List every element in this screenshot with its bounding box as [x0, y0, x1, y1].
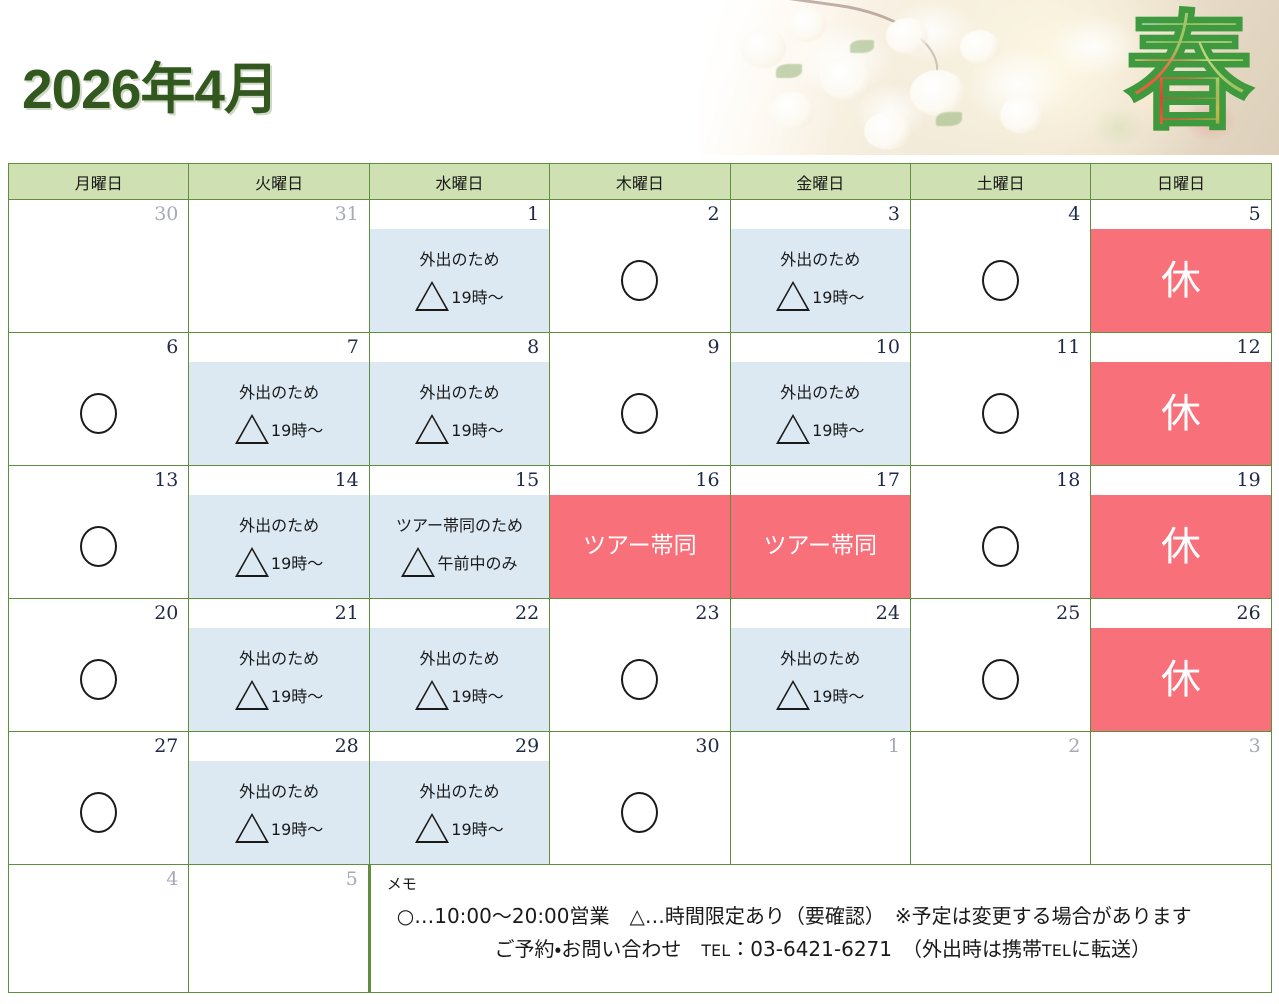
day-content: 外出のため19時〜 — [370, 628, 549, 731]
day-cell[interactable]: 3外出のため19時〜 — [730, 200, 910, 333]
day-number: 12 — [1091, 333, 1270, 362]
day-content: 外出のため19時〜 — [189, 362, 368, 465]
day-time-line: 19時〜 — [235, 813, 323, 843]
day-content: 外出のため19時〜 — [189, 495, 368, 598]
day-time: 19時〜 — [451, 417, 503, 441]
day-content: 外出のため19時〜 — [731, 362, 910, 465]
day-number: 15 — [370, 466, 549, 495]
day-content — [550, 761, 729, 864]
day-time: 19時〜 — [451, 816, 503, 840]
weekday-header-1: 火曜日 — [189, 164, 369, 200]
leaf-icon — [850, 40, 874, 53]
day-number: 30 — [550, 732, 729, 761]
circle-icon — [621, 792, 658, 833]
day-cell[interactable]: 17ツアー帯同 — [730, 466, 910, 599]
day-time: 19時〜 — [271, 816, 323, 840]
memo-line-1: ○…10:00〜20:00営業 △…時間限定あり（要確認） ※予定は変更する場合… — [387, 900, 1259, 929]
phone-number: ：03-6421-6271 （外出時は携帯 — [730, 937, 1042, 961]
blossom-icon — [910, 70, 966, 116]
day-cell[interactable]: 15ツアー帯同のため午前中のみ — [369, 466, 549, 599]
day-time: 19時〜 — [812, 284, 864, 308]
week-row: 2728外出のため19時〜29外出のため19時〜30123 — [9, 732, 1272, 865]
weekday-header-0: 月曜日 — [9, 164, 189, 200]
closed-label: 休 — [1161, 261, 1201, 301]
memo-label: メモ — [387, 873, 1259, 894]
triangle-icon — [776, 680, 810, 710]
day-number: 4 — [911, 200, 1090, 229]
circle-icon — [621, 393, 658, 434]
day-number: 17 — [731, 466, 910, 495]
day-content: 外出のため19時〜 — [731, 229, 910, 332]
day-cell[interactable]: 19休 — [1091, 466, 1271, 599]
day-cell[interactable]: 18 — [910, 466, 1090, 599]
day-cell[interactable]: 30 — [9, 200, 189, 333]
day-time-line: 19時〜 — [776, 414, 864, 444]
day-time: 19時〜 — [271, 417, 323, 441]
day-number: 30 — [9, 200, 188, 229]
day-time-line: 19時〜 — [235, 547, 323, 577]
day-time: 19時〜 — [271, 550, 323, 574]
circle-icon — [982, 260, 1019, 301]
blossom-icon — [1000, 96, 1044, 134]
day-cell[interactable]: 20 — [9, 599, 189, 732]
triangle-icon — [235, 414, 269, 444]
day-number: 6 — [9, 333, 188, 362]
closed-label: 休 — [1161, 394, 1201, 434]
day-cell[interactable]: 27 — [9, 732, 189, 865]
day-content: 外出のため19時〜 — [370, 229, 549, 332]
week-row: 67外出のため19時〜8外出のため19時〜910外出のため19時〜1112休 — [9, 333, 1272, 466]
day-content: 休 — [1091, 495, 1270, 598]
triangle-icon — [235, 547, 269, 577]
circle-icon — [80, 526, 117, 567]
day-number: 13 — [9, 466, 188, 495]
day-note: 外出のため — [419, 649, 499, 668]
circle-icon — [982, 659, 1019, 700]
day-content — [550, 229, 729, 332]
day-content: 休 — [1091, 628, 1270, 731]
day-number: 22 — [370, 599, 549, 628]
day-cell[interactable]: 10外出のため19時〜 — [730, 333, 910, 466]
day-cell[interactable]: 3 — [1091, 732, 1271, 865]
day-number: 18 — [911, 466, 1090, 495]
day-cell[interactable]: 2 — [550, 200, 730, 333]
blossom-icon — [820, 56, 872, 100]
day-content: 外出のため19時〜 — [189, 628, 368, 731]
day-time-line: 19時〜 — [235, 414, 323, 444]
day-number: 23 — [550, 599, 729, 628]
triangle-icon — [415, 281, 449, 311]
day-number: 14 — [189, 466, 368, 495]
weekday-header-row: 月曜日火曜日水曜日木曜日金曜日土曜日日曜日 — [9, 164, 1272, 200]
day-number: 2 — [550, 200, 729, 229]
day-note: 外出のため — [239, 383, 319, 402]
memo-cell[interactable]: メモ○…10:00〜20:00営業 △…時間限定あり（要確認） ※予定は変更する… — [369, 865, 1271, 993]
day-time: 19時〜 — [812, 417, 864, 441]
blossom-icon — [770, 92, 814, 130]
triangle-icon — [235, 813, 269, 843]
day-cell[interactable]: 8外出のため19時〜 — [369, 333, 549, 466]
day-cell[interactable]: 6 — [9, 333, 189, 466]
day-number: 2 — [911, 732, 1090, 761]
day-cell[interactable]: 14外出のため19時〜 — [189, 466, 369, 599]
triangle-icon — [415, 414, 449, 444]
day-note: 外出のため — [419, 383, 499, 402]
memo-line-2: ご予約・お問い合わせ TEL：03-6421-6271 （外出時は携帯TELに転… — [387, 933, 1259, 962]
memo-forward-text: に転送） — [1071, 937, 1151, 961]
circle-icon — [80, 792, 117, 833]
day-number: 9 — [550, 333, 729, 362]
day-time-line: 19時〜 — [776, 680, 864, 710]
day-number: 27 — [9, 732, 188, 761]
triangle-icon — [235, 680, 269, 710]
day-number: 29 — [370, 732, 549, 761]
day-time: 19時〜 — [271, 683, 323, 707]
day-time-line: 19時〜 — [415, 281, 503, 311]
day-time-line: 19時〜 — [776, 281, 864, 311]
day-note: 外出のため — [780, 649, 860, 668]
day-note: 外出のため — [239, 782, 319, 801]
day-cell[interactable]: 7外出のため19時〜 — [189, 333, 369, 466]
leaf-icon — [936, 112, 962, 126]
day-content: 外出のため19時〜 — [370, 761, 549, 864]
day-number: 25 — [911, 599, 1090, 628]
day-cell[interactable]: 2 — [910, 732, 1090, 865]
day-cell[interactable]: 9 — [550, 333, 730, 466]
day-number: 31 — [189, 200, 368, 229]
day-content: 休 — [1091, 229, 1270, 332]
page-title: 2026年4月 — [22, 44, 278, 124]
week-row: 30311外出のため19時〜23外出のため19時〜45休 — [9, 200, 1272, 333]
day-cell[interactable]: 26休 — [1091, 599, 1271, 732]
day-number: 4 — [9, 865, 188, 894]
day-time: 19時〜 — [451, 683, 503, 707]
day-number: 24 — [731, 599, 910, 628]
blossom-icon — [864, 112, 912, 150]
day-note: 外出のため — [419, 782, 499, 801]
weekday-header-6: 日曜日 — [1091, 164, 1271, 200]
day-cell[interactable]: 4 — [9, 865, 189, 993]
blossom-icon — [886, 18, 928, 54]
day-number: 16 — [550, 466, 729, 495]
day-content — [911, 495, 1090, 598]
day-content: ツアー帯同 — [550, 495, 729, 598]
circle-icon — [80, 393, 117, 434]
day-content — [9, 362, 188, 465]
day-time-line: 19時〜 — [415, 680, 503, 710]
day-cell[interactable]: 12休 — [1091, 333, 1271, 466]
blossom-icon — [788, 8, 826, 42]
tour-label: ツアー帯同 — [763, 535, 877, 558]
leaf-icon — [776, 64, 802, 78]
triangle-icon — [776, 281, 810, 311]
calendar-page: 春 2026年4月 月曜日火曜日水曜日木曜日金曜日土曜日日曜日 30311外出の… — [0, 0, 1279, 1004]
spring-banner: 春 — [700, 0, 1279, 155]
day-number: 11 — [911, 333, 1090, 362]
memo-reservation-text: ご予約・お問い合わせ — [495, 937, 702, 961]
day-cell[interactable]: 28外出のため19時〜 — [189, 732, 369, 865]
calendar-grid: 月曜日火曜日水曜日木曜日金曜日土曜日日曜日 30311外出のため19時〜23外出… — [8, 163, 1271, 993]
day-content — [911, 362, 1090, 465]
day-content — [9, 761, 188, 864]
circle-icon — [621, 260, 658, 301]
day-time-line: 19時〜 — [415, 414, 503, 444]
day-number: 1 — [370, 200, 549, 229]
day-time: 19時〜 — [451, 284, 503, 308]
day-cell[interactable]: 5 — [189, 865, 369, 993]
triangle-icon — [415, 680, 449, 710]
tel-label: TEL — [701, 942, 730, 960]
day-number: 3 — [1091, 732, 1270, 761]
day-cell[interactable]: 21外出のため19時〜 — [189, 599, 369, 732]
triangle-icon — [776, 414, 810, 444]
day-number: 5 — [189, 865, 367, 894]
circle-icon — [982, 393, 1019, 434]
day-number: 10 — [731, 333, 910, 362]
day-cell[interactable]: 1 — [730, 732, 910, 865]
circle-icon — [982, 526, 1019, 567]
day-note: 外出のため — [419, 250, 499, 269]
day-number: 19 — [1091, 466, 1270, 495]
calendar-table: 月曜日火曜日水曜日木曜日金曜日土曜日日曜日 30311外出のため19時〜23外出… — [8, 163, 1272, 993]
day-time-line: 午前中のみ — [401, 547, 517, 577]
day-cell[interactable]: 4 — [910, 200, 1090, 333]
day-time: 19時〜 — [812, 683, 864, 707]
triangle-icon — [401, 547, 435, 577]
day-content — [911, 229, 1090, 332]
day-cell[interactable]: 31 — [189, 200, 369, 333]
day-cell[interactable]: 13 — [9, 466, 189, 599]
tour-label: ツアー帯同 — [583, 535, 697, 558]
day-time-line: 19時〜 — [235, 680, 323, 710]
day-cell[interactable]: 11 — [910, 333, 1090, 466]
day-content — [550, 628, 729, 731]
tel-label-mobile: TEL — [1042, 942, 1071, 960]
day-number: 3 — [731, 200, 910, 229]
day-number: 7 — [189, 333, 368, 362]
day-number: 21 — [189, 599, 368, 628]
day-cell[interactable]: 16ツアー帯同 — [550, 466, 730, 599]
day-content — [911, 628, 1090, 731]
day-cell[interactable]: 1外出のため19時〜 — [369, 200, 549, 333]
day-note: 外出のため — [239, 649, 319, 668]
day-content — [9, 628, 188, 731]
day-time: 午前中のみ — [437, 550, 517, 574]
day-number: 28 — [189, 732, 368, 761]
day-note: 外出のため — [239, 516, 319, 535]
day-cell[interactable]: 22外出のため19時〜 — [369, 599, 549, 732]
day-note: ツアー帯同のため — [396, 516, 523, 535]
day-content: 外出のため19時〜 — [731, 628, 910, 731]
day-content: ツアー帯同のため午前中のみ — [370, 495, 549, 598]
day-content: 休 — [1091, 362, 1270, 465]
footer-row: 45メモ○…10:00〜20:00営業 △…時間限定あり（要確認） ※予定は変更… — [9, 865, 1272, 993]
day-content — [550, 362, 729, 465]
day-number: 8 — [370, 333, 549, 362]
day-content — [9, 495, 188, 598]
day-cell[interactable]: 29外出のため19時〜 — [369, 732, 549, 865]
day-cell[interactable]: 5休 — [1091, 200, 1271, 333]
weekday-header-5: 土曜日 — [910, 164, 1090, 200]
triangle-icon — [415, 813, 449, 843]
weekday-header-4: 金曜日 — [730, 164, 910, 200]
day-cell[interactable]: 23 — [550, 599, 730, 732]
day-number: 26 — [1091, 599, 1270, 628]
day-time-line: 19時〜 — [415, 813, 503, 843]
day-number: 1 — [731, 732, 910, 761]
day-content: 外出のため19時〜 — [370, 362, 549, 465]
closed-label: 休 — [1161, 527, 1201, 567]
blossom-icon — [740, 28, 786, 68]
day-content: 外出のため19時〜 — [189, 761, 368, 864]
day-content: ツアー帯同 — [731, 495, 910, 598]
weekday-header-2: 水曜日 — [369, 164, 549, 200]
day-number: 5 — [1091, 200, 1270, 229]
circle-icon — [80, 659, 117, 700]
day-note: 外出のため — [780, 383, 860, 402]
week-row: 2021外出のため19時〜22外出のため19時〜2324外出のため19時〜252… — [9, 599, 1272, 732]
day-note: 外出のため — [780, 250, 860, 269]
day-number: 20 — [9, 599, 188, 628]
spring-kanji-icon: 春 — [1125, 10, 1253, 138]
closed-label: 休 — [1161, 660, 1201, 700]
day-cell[interactable]: 24外出のため19時〜 — [730, 599, 910, 732]
circle-icon — [621, 659, 658, 700]
blossom-icon — [960, 30, 1000, 64]
day-cell[interactable]: 30 — [550, 732, 730, 865]
weekday-header-3: 木曜日 — [550, 164, 730, 200]
day-cell[interactable]: 25 — [910, 599, 1090, 732]
week-row: 1314外出のため19時〜15ツアー帯同のため午前中のみ16ツアー帯同17ツアー… — [9, 466, 1272, 599]
